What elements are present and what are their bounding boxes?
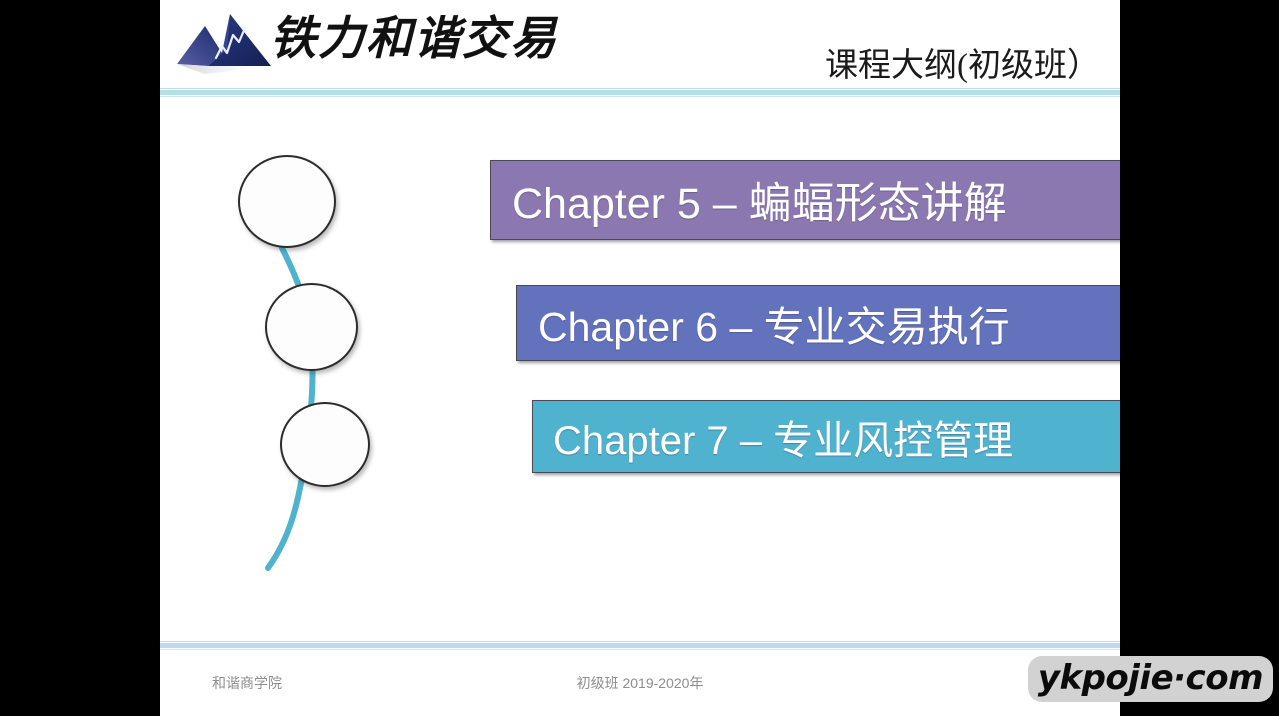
divider-line-bottom [160, 96, 1120, 97]
mountain-chart-logo-icon [175, 8, 279, 76]
footer-divider [160, 641, 1120, 650]
chapter-label-7: Chapter 7 – 专业风控管理 [553, 400, 1013, 473]
chapter-bullet-circle-5 [238, 155, 336, 248]
header-divider [160, 88, 1120, 97]
divider-line-top [160, 641, 1120, 642]
chapter-label-5: Chapter 5 – 蝙蝠形态讲解 [512, 160, 1007, 240]
divider-line-bottom [160, 649, 1120, 650]
site-watermark: ykpojie·com [1028, 656, 1273, 702]
page-title: 课程大纲(初级班） [825, 38, 1100, 86]
footer-course-term: 初级班 2019-2020年 [160, 673, 1120, 693]
chapter-diagram: Chapter 5 – 蝙蝠形态讲解 Chapter 6 – 专业交易执行 Ch… [160, 100, 1120, 620]
divider-band [160, 90, 1120, 95]
chapter-bullet-circle-7 [280, 402, 370, 487]
slide-header: 铁力和谐交易 课程大纲(初级班） [160, 0, 1120, 88]
chapter-bullet-circle-6 [265, 283, 358, 371]
logo-wordmark: 铁力和谐交易 [270, 8, 540, 70]
divider-band [160, 643, 1120, 648]
slide-footer: 和谐商学院 初级班 2019-2020年 3 [160, 665, 1120, 705]
slide-canvas: 铁力和谐交易 课程大纲(初级班） Chapter 5 – 蝙蝠形态讲解 [160, 0, 1120, 716]
screen: 铁力和谐交易 课程大纲(初级班） Chapter 5 – 蝙蝠形态讲解 [0, 0, 1279, 716]
divider-line-top [160, 88, 1120, 89]
chapter-label-6: Chapter 6 – 专业交易执行 [538, 285, 1010, 361]
